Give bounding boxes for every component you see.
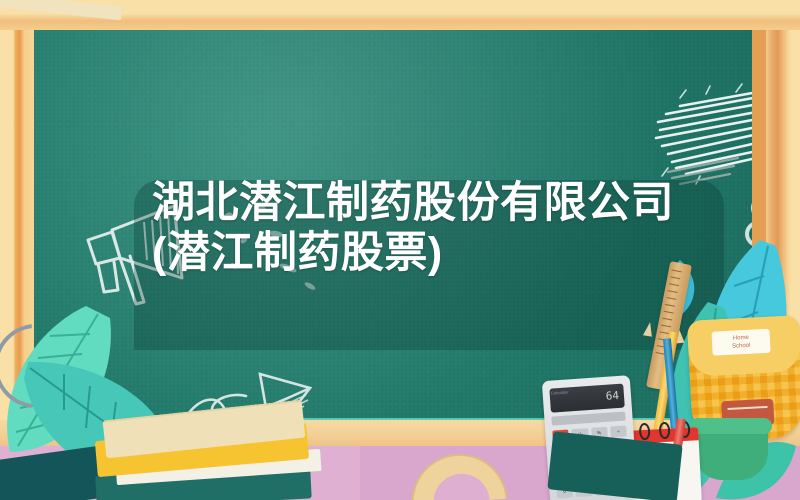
title-line-2: (潜江制药股票) xyxy=(152,228,712,278)
plant-pot-rim xyxy=(690,418,772,434)
backpack-label-line2: School xyxy=(712,341,770,352)
page-title: 湖北潜江制药股份有限公司 (潜江制药股票) xyxy=(152,178,712,279)
backpack-label: Home School xyxy=(711,329,770,356)
calculator-display: 64 xyxy=(549,384,624,413)
backpack-pocket-trim xyxy=(727,406,767,410)
calculator-solar-strip xyxy=(551,411,625,425)
plant-pot-icon xyxy=(694,426,768,480)
chalk-smudge-icon xyxy=(646,72,752,190)
calculator-key: ÷ xyxy=(610,425,627,437)
title-line-1: 湖北潜江制药股份有限公司 xyxy=(152,178,712,228)
protractor-cutout xyxy=(432,472,490,500)
pencil-tip-icon xyxy=(675,330,684,344)
poster-canvas: 湖北潜江制药股份有限公司 (潜江制药股票) xyxy=(0,0,800,500)
